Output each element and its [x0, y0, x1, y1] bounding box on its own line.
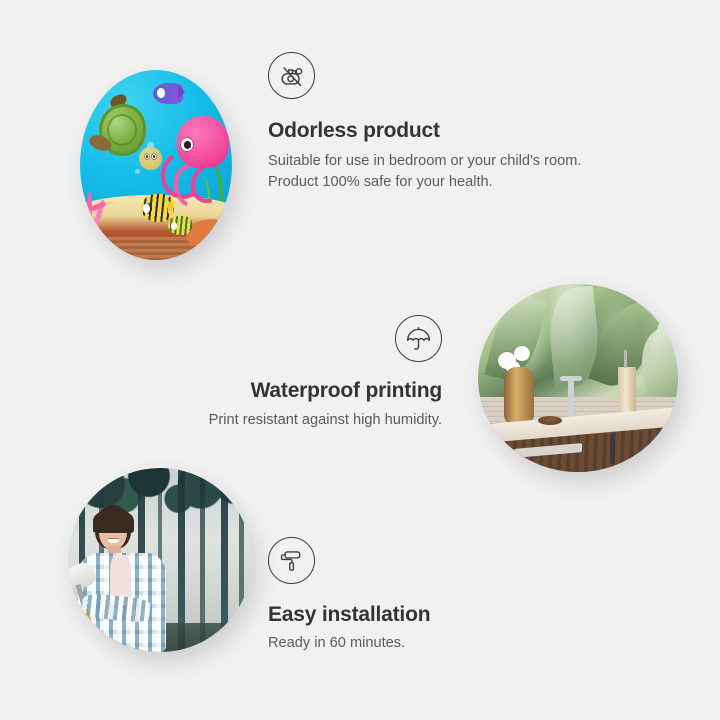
turtle-head — [139, 147, 162, 170]
fringe — [93, 509, 134, 533]
underwater-cartoon-mural-photo — [80, 70, 232, 260]
bathroom-scene — [478, 284, 678, 472]
icon-wrapper — [120, 315, 442, 362]
soap-dish — [538, 416, 562, 425]
turtle-eye — [144, 153, 150, 160]
forest-wallpaper-installer-photo — [68, 468, 252, 652]
yellow-striped-fish-icon — [141, 194, 174, 223]
feature-description: Ready in 60 minutes. — [268, 633, 588, 654]
smile — [108, 538, 119, 543]
octopus-body — [177, 116, 229, 168]
feature-waterproof-printing: Waterproof printing Print resistant agai… — [120, 315, 442, 431]
small-fish-icon — [168, 216, 192, 235]
faucet-icon — [568, 378, 574, 419]
sea-turtle-icon — [92, 100, 159, 168]
blue-fish-icon — [153, 83, 183, 104]
feature-title: Waterproof printing — [120, 378, 442, 403]
feature-panel: Odorless product Suitable for use in bed… — [0, 0, 720, 720]
feature-title: Odorless product — [268, 118, 608, 143]
feature-odorless-product: Odorless product Suitable for use in bed… — [268, 52, 608, 194]
forest-scene — [68, 468, 252, 652]
coral-icon — [80, 176, 138, 233]
white-rose — [514, 346, 530, 361]
umbrella-icon — [395, 315, 442, 362]
no-odor-perfume-icon — [268, 52, 315, 99]
paint-roller-icon — [268, 537, 315, 584]
octopus-icon — [165, 116, 229, 203]
feature-title: Easy installation — [268, 602, 588, 627]
feature-description: Print resistant against high humidity. — [120, 410, 442, 431]
turtle-eye — [151, 153, 157, 160]
bathroom-tropical-wallpaper-photo — [478, 284, 678, 472]
gold-vase — [504, 367, 534, 423]
ocean-scene — [80, 70, 232, 260]
feature-easy-installation: Easy installation Ready in 60 minutes. — [268, 537, 588, 654]
feature-description: Suitable for use in bedroom or your chil… — [268, 151, 608, 193]
woman-with-paint-roller — [72, 505, 179, 652]
cabinet-handle — [610, 434, 615, 464]
